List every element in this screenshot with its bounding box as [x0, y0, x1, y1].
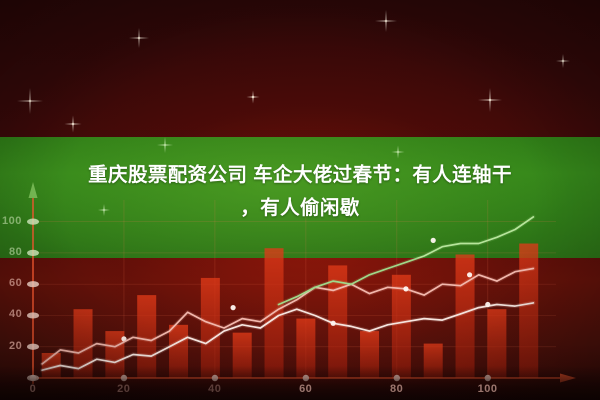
chart-data-point [431, 238, 436, 243]
chart-data-point [403, 286, 408, 291]
chart-bar [424, 344, 443, 378]
x-axis-tick [212, 375, 218, 381]
chart-bar [233, 333, 252, 378]
chart-bar [169, 325, 188, 378]
page-title: 重庆股票配资公司 车企大佬过春节：有人连轴干 ，有人偷闲歇 [0, 159, 600, 225]
y-axis-tick-label: 80 [9, 246, 22, 258]
y-axis-tick [27, 281, 39, 287]
page-title-line-2: ，有人偷闲歇 [8, 192, 592, 225]
chart-bar [519, 244, 538, 378]
y-axis-tick [27, 312, 39, 318]
chart-data-point [231, 305, 236, 310]
y-axis-tick-label: 40 [9, 308, 22, 320]
x-axis-tick-label: 60 [299, 383, 312, 395]
y-axis-tick-label: 60 [9, 277, 22, 289]
chart-bar [487, 309, 506, 378]
x-axis-tick [485, 375, 491, 381]
screenshot-root: 重庆股票配资公司 车企大佬过春节：有人连轴干 ，有人偷闲歇 2040608010… [0, 0, 600, 400]
x-axis-tick-label: 80 [390, 383, 403, 395]
y-axis-tick [27, 250, 39, 256]
chart-bar [296, 319, 315, 378]
x-axis-tick [303, 375, 309, 381]
chart-bar [201, 278, 220, 378]
x-axis-tick [30, 375, 36, 381]
chart-data-point [485, 302, 490, 307]
chart-bar [360, 331, 379, 378]
arrow-right-icon [560, 374, 576, 383]
y-axis-tick-label: 20 [9, 340, 22, 352]
chart-data-point [331, 321, 336, 326]
x-axis-tick [394, 375, 400, 381]
y-axis-tick [27, 344, 39, 350]
x-axis-tick [121, 375, 127, 381]
x-axis-tick-label: 100 [478, 383, 498, 395]
x-axis-tick-label: 40 [208, 383, 221, 395]
x-axis-tick-label: 20 [117, 383, 130, 395]
chart-data-point [467, 272, 472, 277]
page-title-line-1: 重庆股票配资公司 车企大佬过春节：有人连轴干 [8, 159, 592, 192]
x-axis-tick-label: 0 [30, 383, 37, 395]
